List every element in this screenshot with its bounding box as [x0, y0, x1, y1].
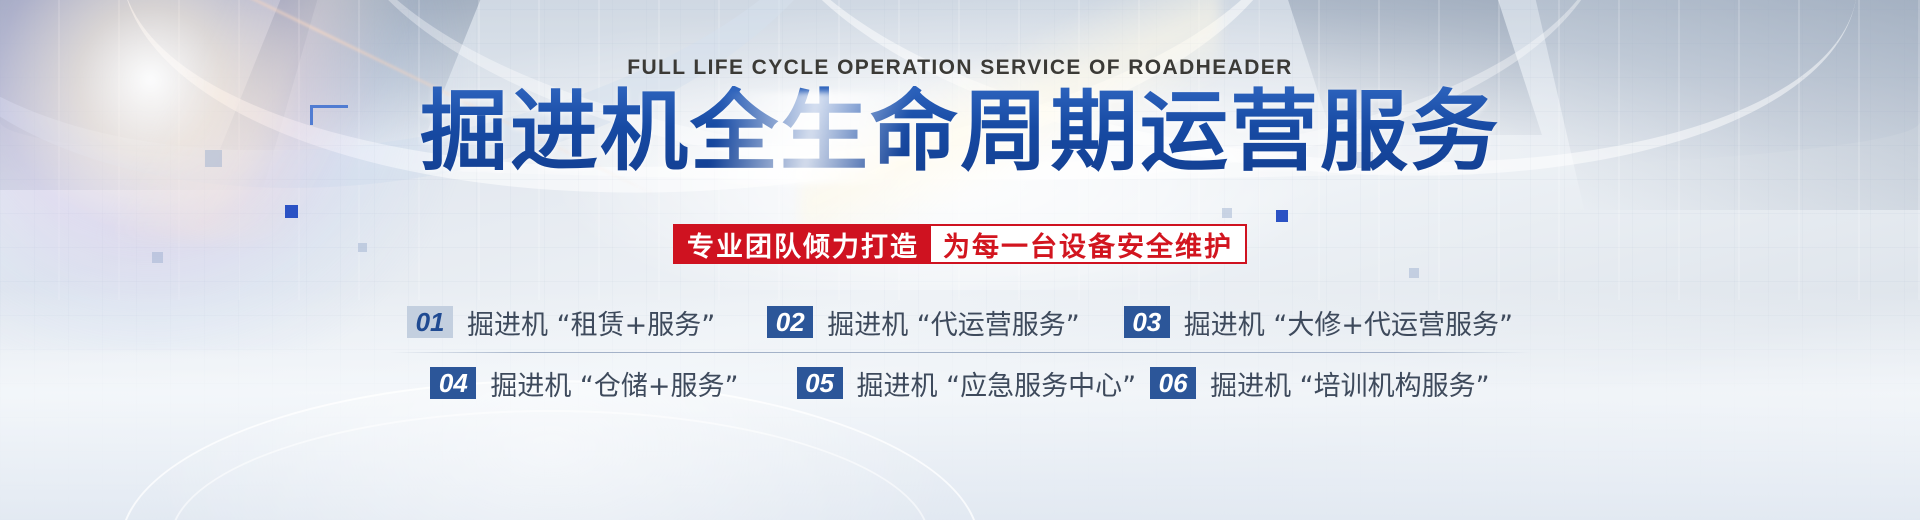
service-item-01[interactable]: 01 掘进机 “租赁+服务”	[407, 303, 715, 342]
service-number-badge-06: 06	[1150, 367, 1196, 399]
service-label-04: 掘进机 “仓储+服务”	[490, 364, 738, 403]
service-item-04[interactable]: 04 掘进机 “仓储+服务”	[430, 364, 738, 403]
service-row-2: 04 掘进机 “仓储+服务” 05 掘进机 “应急服务中心” 06 掘进机 “培…	[0, 353, 1920, 413]
service-row-1: 01 掘进机 “租赁+服务” 02 掘进机 “代运营服务” 03 掘进机 “大修…	[0, 292, 1920, 352]
service-list: 01 掘进机 “租赁+服务” 02 掘进机 “代运营服务” 03 掘进机 “大修…	[0, 292, 1920, 413]
page-title: 掘进机全生命周期运营服务	[0, 86, 1920, 178]
slogan-bar: 专业团队倾力打造 为每一台设备安全维护	[673, 224, 1247, 264]
service-item-02[interactable]: 02 掘进机 “代运营服务”	[767, 303, 1080, 342]
service-label-06: 掘进机 “培训机构服务”	[1210, 364, 1490, 403]
service-label-01: 掘进机 “租赁+服务”	[467, 303, 715, 342]
service-number-badge-02: 02	[767, 306, 813, 338]
service-item-06[interactable]: 06 掘进机 “培训机构服务”	[1150, 364, 1490, 403]
service-number-badge-05: 05	[797, 367, 843, 399]
service-item-05[interactable]: 05 掘进机 “应急服务中心”	[797, 364, 1137, 403]
promo-banner: FULL LIFE CYCLE OPERATION SERVICE OF ROA…	[0, 0, 1920, 520]
service-number-badge-03: 03	[1124, 306, 1170, 338]
banner-content: FULL LIFE CYCLE OPERATION SERVICE OF ROA…	[0, 0, 1920, 520]
service-label-03: 掘进机 “大修+代运营服务”	[1184, 303, 1513, 342]
slogan-secondary: 为每一台设备安全维护	[931, 226, 1245, 262]
slogan-primary: 专业团队倾力打造	[675, 226, 931, 262]
service-item-03[interactable]: 03 掘进机 “大修+代运营服务”	[1124, 303, 1513, 342]
service-label-05: 掘进机 “应急服务中心”	[857, 364, 1137, 403]
service-label-02: 掘进机 “代运营服务”	[827, 303, 1080, 342]
banner-eyebrow-english: FULL LIFE CYCLE OPERATION SERVICE OF ROA…	[0, 56, 1920, 80]
service-number-badge-04: 04	[430, 367, 476, 399]
service-number-badge-01: 01	[407, 306, 453, 338]
